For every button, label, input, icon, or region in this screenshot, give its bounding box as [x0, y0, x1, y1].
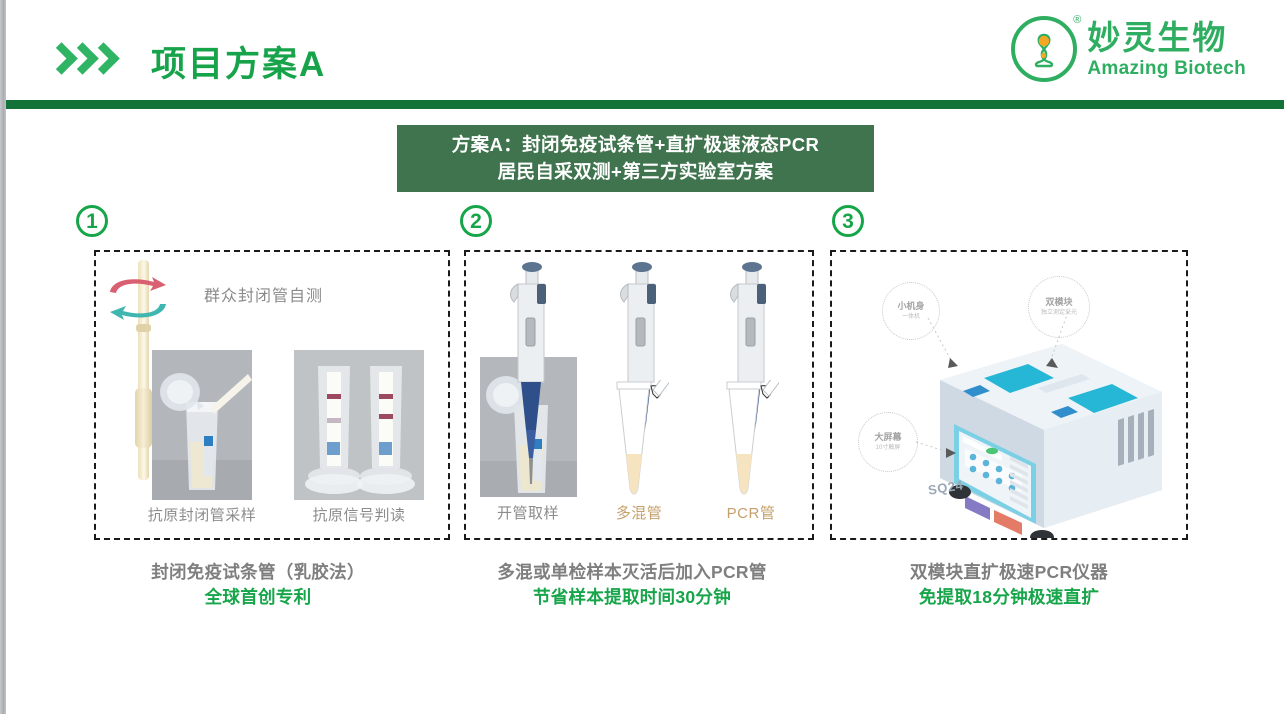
step-1: 1 群众封闭管自测: [68, 205, 448, 635]
banner-line-1: 方案A：封闭免疫试条管+直扩极速液态PCR: [452, 132, 820, 158]
pipette-1-icon: [504, 262, 558, 492]
scheme-banner: 方案A：封闭免疫试条管+直扩极速液态PCR 居民自采双测+第三方实验室方案: [397, 125, 874, 192]
antigen-signal-readout-photo: [294, 350, 424, 500]
step-1-caption-block: 封闭免疫试条管（乳胶法） 全球首创专利: [68, 560, 448, 611]
registered-mark: ®: [1073, 14, 1081, 26]
step-2-number-badge: 2: [460, 205, 492, 237]
step-1-number-badge: 1: [76, 205, 108, 237]
header-divider: [6, 100, 1284, 109]
step-1-item-2-caption: 抗原信号判读: [286, 504, 432, 525]
step-2-caption-main: 多混或单检样本灭活后加入PCR管: [452, 560, 812, 585]
logo-name-en: Amazing Biotech: [1087, 59, 1246, 78]
double-chevron-right-icon: [48, 44, 111, 76]
step-3: 3: [824, 205, 1194, 635]
step-2-caption-sub: 节省样本提取时间30分钟: [452, 585, 812, 610]
step-3-caption-sub: 免提取18分钟极速直扩: [824, 585, 1194, 610]
step-2-item-2-caption: 多混管: [588, 502, 690, 523]
step-2: 2: [452, 205, 812, 635]
step-3-number-badge: 3: [832, 205, 864, 237]
step-1-panel: 群众封闭管自测: [94, 250, 450, 540]
pooling-tube-illustration: [613, 380, 669, 500]
step-1-item-1-caption: 抗原封闭管采样: [126, 504, 278, 525]
device-callout-3: 大屏幕 10寸触屏: [858, 412, 918, 472]
slide-header: 项目方案A ® 妙灵生物 Amazing Biotech: [6, 0, 1284, 100]
step-1-caption-sub: 全球首创专利: [68, 585, 448, 610]
step-2-item-3-caption: PCR管: [698, 502, 804, 523]
step-2-caption-block: 多混或单检样本灭活后加入PCR管 节省样本提取时间30分钟: [452, 560, 812, 611]
step-2-item-1-caption: 开管取样: [472, 502, 584, 523]
antigen-sealed-tube-sampling-photo: [152, 350, 252, 500]
flask-circle-logo-icon: ®: [1011, 16, 1077, 82]
pcr-tube-illustration: [723, 380, 779, 500]
step-2-panel: 开管取样 多混管 PCR管: [464, 250, 814, 540]
step-1-panel-title: 群众封闭管自测: [204, 282, 323, 306]
step-1-caption-main: 封闭免疫试条管（乳胶法）: [68, 560, 448, 585]
logo-name-cn: 妙灵生物: [1087, 21, 1246, 54]
device-callout-2: 双模块 独立测定采光: [1028, 276, 1090, 338]
device-callout-1: 小机身 一体机: [882, 282, 940, 340]
step-3-caption-main: 双模块直扩极速PCR仪器: [824, 560, 1194, 585]
page-title: 项目方案A: [151, 36, 326, 87]
banner-line-2: 居民自采双测+第三方实验室方案: [498, 159, 774, 185]
slide-canvas: 项目方案A ® 妙灵生物 Amazing Biotech 方案A：封闭免疫试条管…: [0, 0, 1284, 714]
steps-row: 1 群众封闭管自测: [6, 205, 1284, 635]
step-3-caption-block: 双模块直扩极速PCR仪器 免提取18分钟极速直扩: [824, 560, 1194, 611]
step-3-panel: 小机身 一体机 双模块 独立测定采光 大屏幕 10寸触屏 SQ24: [830, 250, 1188, 540]
dual-module-pcr-instrument-photo: [832, 252, 1186, 538]
company-logo: ® 妙灵生物 Amazing Biotech: [1011, 16, 1246, 82]
